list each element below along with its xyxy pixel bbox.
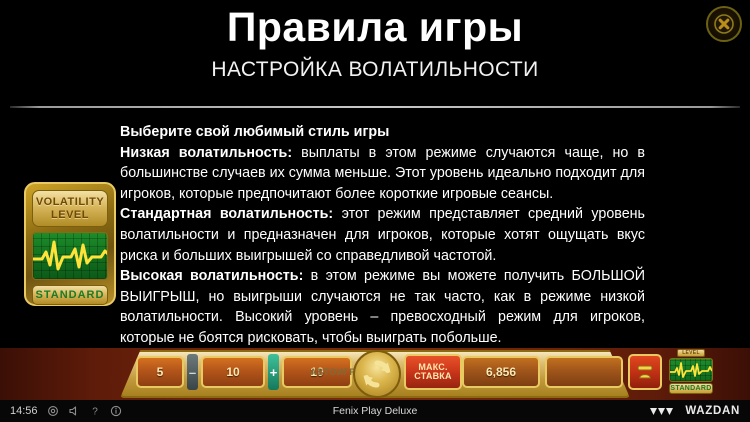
header: Правила игры НАСТРОЙКА ВОЛАТИЛЬНОСТИ xyxy=(0,0,750,108)
mini-volatility-screen xyxy=(669,358,713,382)
rules-paragraph-low-lead: Низкая волатильность: xyxy=(120,145,292,161)
status-bar: 14:56 ? xyxy=(0,400,750,422)
brand-logo: WAZDAN xyxy=(650,405,740,417)
close-button[interactable] xyxy=(706,6,742,42)
close-icon xyxy=(714,14,734,34)
max-bet-line2: СТАВКА xyxy=(414,372,451,381)
game-control-bar: 5 – 10 + 10 АВТОИГРА МАКС. СТАВКА 6,856 xyxy=(0,348,750,400)
mini-volatility-value: STANDARD xyxy=(669,383,713,394)
spin-icon xyxy=(361,358,393,390)
win-display xyxy=(545,356,623,388)
rules-paragraph-high: Высокая волатильность: в этом режиме вы … xyxy=(120,266,645,348)
page-subtitle: НАСТРОЙКА ВОЛАТИЛЬНОСТИ xyxy=(0,58,750,82)
ekg-icon xyxy=(33,233,108,279)
rules-paragraph-standard: Стандартная волатильность: этот режим пр… xyxy=(120,204,645,266)
bell-icon xyxy=(635,362,655,382)
wazdan-mark-icon xyxy=(650,406,680,417)
mini-ekg-icon xyxy=(670,359,712,381)
menu-button[interactable] xyxy=(628,354,662,390)
game-rules-overlay: Правила игры НАСТРОЙКА ВОЛАТИЛЬНОСТИ VOL… xyxy=(0,0,750,422)
spin-button[interactable] xyxy=(353,350,401,398)
game-title-label: Fenix Play Deluxe xyxy=(0,405,750,417)
volatility-ekg-screen xyxy=(32,232,108,280)
page-title: Правила игры xyxy=(0,4,750,51)
volatility-badge-level-text: STANDARD xyxy=(36,289,105,301)
header-divider xyxy=(10,106,740,108)
rules-paragraph-low: Низкая волатильность: выплаты в этом реж… xyxy=(120,143,645,205)
rules-text-block: Выберите свой любимый стиль игры Низкая … xyxy=(120,122,645,349)
bet-increase-button[interactable]: + xyxy=(268,354,279,390)
max-bet-button[interactable]: МАКС. СТАВКА xyxy=(404,354,462,390)
volatility-badge-line1: VOLATILITY xyxy=(36,197,104,208)
balance-display: 6,856 xyxy=(462,356,540,388)
brand-name: WAZDAN xyxy=(685,405,740,417)
volatility-level-badge: VOLATILITY LEVEL STANDARD xyxy=(24,182,116,306)
volatility-badge-title: VOLATILITY LEVEL xyxy=(32,190,108,227)
bet-value-button[interactable]: 10 xyxy=(201,356,265,388)
bet-decrease-button[interactable]: – xyxy=(187,354,198,390)
rules-paragraph-high-lead: Высокая волатильность: xyxy=(120,268,303,284)
rules-paragraph-standard-lead: Стандартная волатильность: xyxy=(120,206,333,222)
lines-value-button[interactable]: 5 xyxy=(136,356,184,388)
volatility-level-widget[interactable]: LEVEL STANDARD xyxy=(668,349,714,399)
game-bar-controls: 5 – 10 + 10 АВТОИГРА МАКС. СТАВКА 6,856 xyxy=(0,348,750,400)
volatility-badge-line2: LEVEL xyxy=(51,210,89,221)
mini-volatility-label: LEVEL xyxy=(677,349,705,357)
volatility-badge-level: STANDARD xyxy=(32,285,108,305)
rules-heading: Выберите свой любимый стиль игры xyxy=(120,122,645,143)
